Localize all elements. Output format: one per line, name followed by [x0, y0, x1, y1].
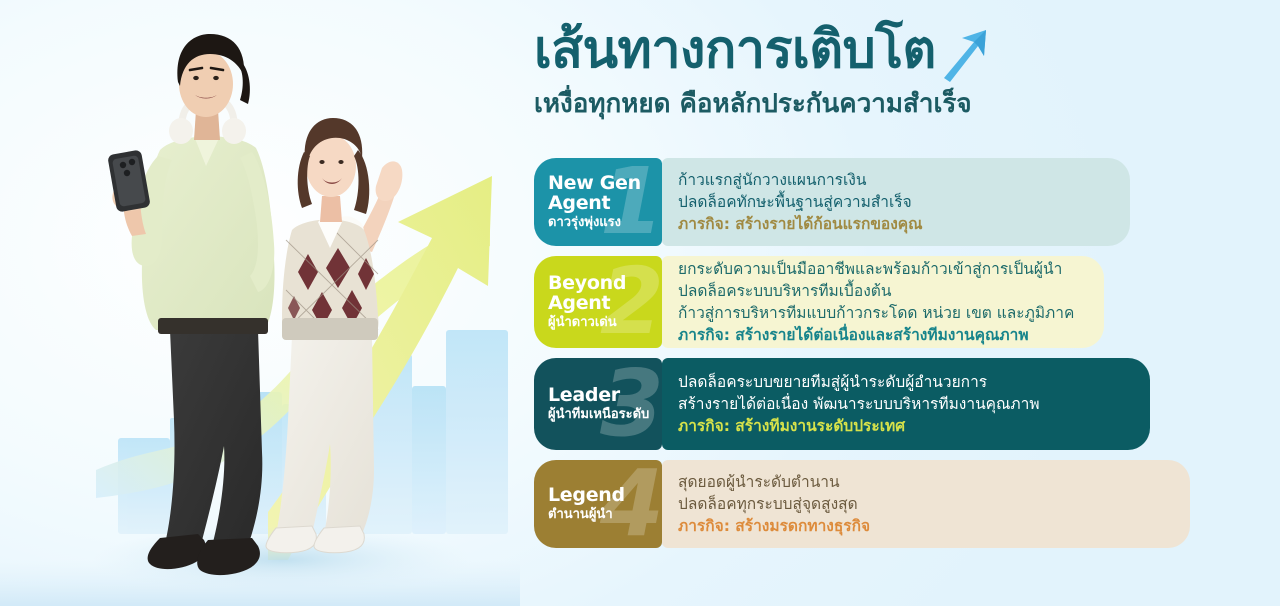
stage-en-line2-2: Agent [548, 293, 652, 313]
stage-body-1: ก้าวแรกสู่นักวางแผนการเงิน ปลดล็อคทักษะพ… [662, 158, 1130, 246]
hero-artwork-svg [0, 0, 520, 606]
stage-mission-1: ภารกิจ: สร้างรายได้ก้อนแรกของคุณ [678, 213, 1110, 235]
stage-badge-4[interactable]: 4 Legend ตำนานผู้นำ [534, 460, 662, 548]
stage-line-2-1: ยกระดับความเป็นมืออาชีพและพร้อมก้าวเข้าส… [678, 258, 1084, 280]
career-stage-card[interactable]: 4 Legend ตำนานผู้นำ สุดยอดผู้นำระดับตำนา… [534, 460, 1274, 548]
stage-th-label-3: ผู้นำทีมเหนือระดับ [548, 407, 652, 423]
floor-reflection [0, 560, 520, 606]
content-column: เส้นทางการเติบโต เหงื่อทุกหยด คือหลักประ… [528, 0, 1280, 606]
stage-line-3-1: ปลดล็อคระบบขยายทีมสู่ผู้นำระดับผู้อำนวยก… [678, 371, 1130, 393]
career-path-list: 1 New Gen Agent ดาวรุ่งพุ่งแรง ก้าวแรกสู… [534, 158, 1274, 558]
stage-body-3: ปลดล็อคระบบขยายทีมสู่ผู้นำระดับผู้อำนวยก… [662, 358, 1150, 450]
stage-line-1-2: ปลดล็อคทักษะพื้นฐานสู่ความสำเร็จ [678, 191, 1110, 213]
stage-line-4-1: สุดยอดผู้นำระดับตำนาน [678, 471, 1170, 493]
title-row: เส้นทางการเติบโต [534, 22, 1274, 87]
stage-badge-2[interactable]: 2 Beyond Agent ผู้นำดาวเด่น [534, 256, 662, 348]
stage-en-line2-1: Agent [548, 193, 652, 213]
stage-line-3-2: สร้างรายได้ต่อเนื่อง พัฒนาระบบบริหารทีมง… [678, 393, 1130, 415]
stage-badge-1[interactable]: 1 New Gen Agent ดาวรุ่งพุ่งแรง [534, 158, 662, 246]
stage-mission-4: ภารกิจ: สร้างมรดกทางธุรกิจ [678, 515, 1170, 537]
stage-th-label-4: ตำนานผู้นำ [548, 507, 652, 523]
stage-line-2-3: ก้าวสู่การบริหารทีมแบบก้าวกระโดด หน่วย เ… [678, 302, 1084, 324]
infographic-canvas: เส้นทางการเติบโต เหงื่อทุกหยด คือหลักประ… [0, 0, 1280, 606]
stage-en-line1-1: New Gen [548, 173, 652, 193]
career-stage-card[interactable]: 1 New Gen Agent ดาวรุ่งพุ่งแรง ก้าวแรกสู… [534, 158, 1274, 246]
page-subtitle: เหงื่อทุกหยด คือหลักประกันความสำเร็จ [534, 89, 1274, 120]
stage-th-label-1: ดาวรุ่งพุ่งแรง [548, 215, 652, 231]
hero-illustration [0, 0, 520, 606]
growth-arrow-icon [938, 26, 990, 87]
stage-badge-3[interactable]: 3 Leader ผู้นำทีมเหนือระดับ [534, 358, 662, 450]
stage-line-2-2: ปลดล็อคระบบบริหารทีมเบื้องต้น [678, 280, 1084, 302]
career-stage-card[interactable]: 3 Leader ผู้นำทีมเหนือระดับ ปลดล็อคระบบข… [534, 358, 1274, 450]
stage-en-line1-2: Beyond [548, 273, 652, 293]
page-title: เส้นทางการเติบโต [534, 22, 936, 78]
stage-en-line1-4: Legend [548, 485, 652, 505]
stage-body-2: ยกระดับความเป็นมืออาชีพและพร้อมก้าวเข้าส… [662, 256, 1104, 348]
stage-line-4-2: ปลดล็อคทุกระบบสู่จุดสูงสุด [678, 493, 1170, 515]
stage-mission-3: ภารกิจ: สร้างทีมงานระดับประเทศ [678, 415, 1130, 437]
stage-mission-2: ภารกิจ: สร้างรายได้ต่อเนื่องและสร้างทีมง… [678, 324, 1084, 346]
stage-th-label-2: ผู้นำดาวเด่น [548, 315, 652, 331]
stage-body-4: สุดยอดผู้นำระดับตำนาน ปลดล็อคทุกระบบสู่จ… [662, 460, 1190, 548]
stage-line-1-1: ก้าวแรกสู่นักวางแผนการเงิน [678, 169, 1110, 191]
stage-en-line1-3: Leader [548, 385, 652, 405]
career-stage-card[interactable]: 2 Beyond Agent ผู้นำดาวเด่น ยกระดับความเ… [534, 256, 1274, 348]
title-block: เส้นทางการเติบโต เหงื่อทุกหยด คือหลักประ… [534, 22, 1274, 120]
